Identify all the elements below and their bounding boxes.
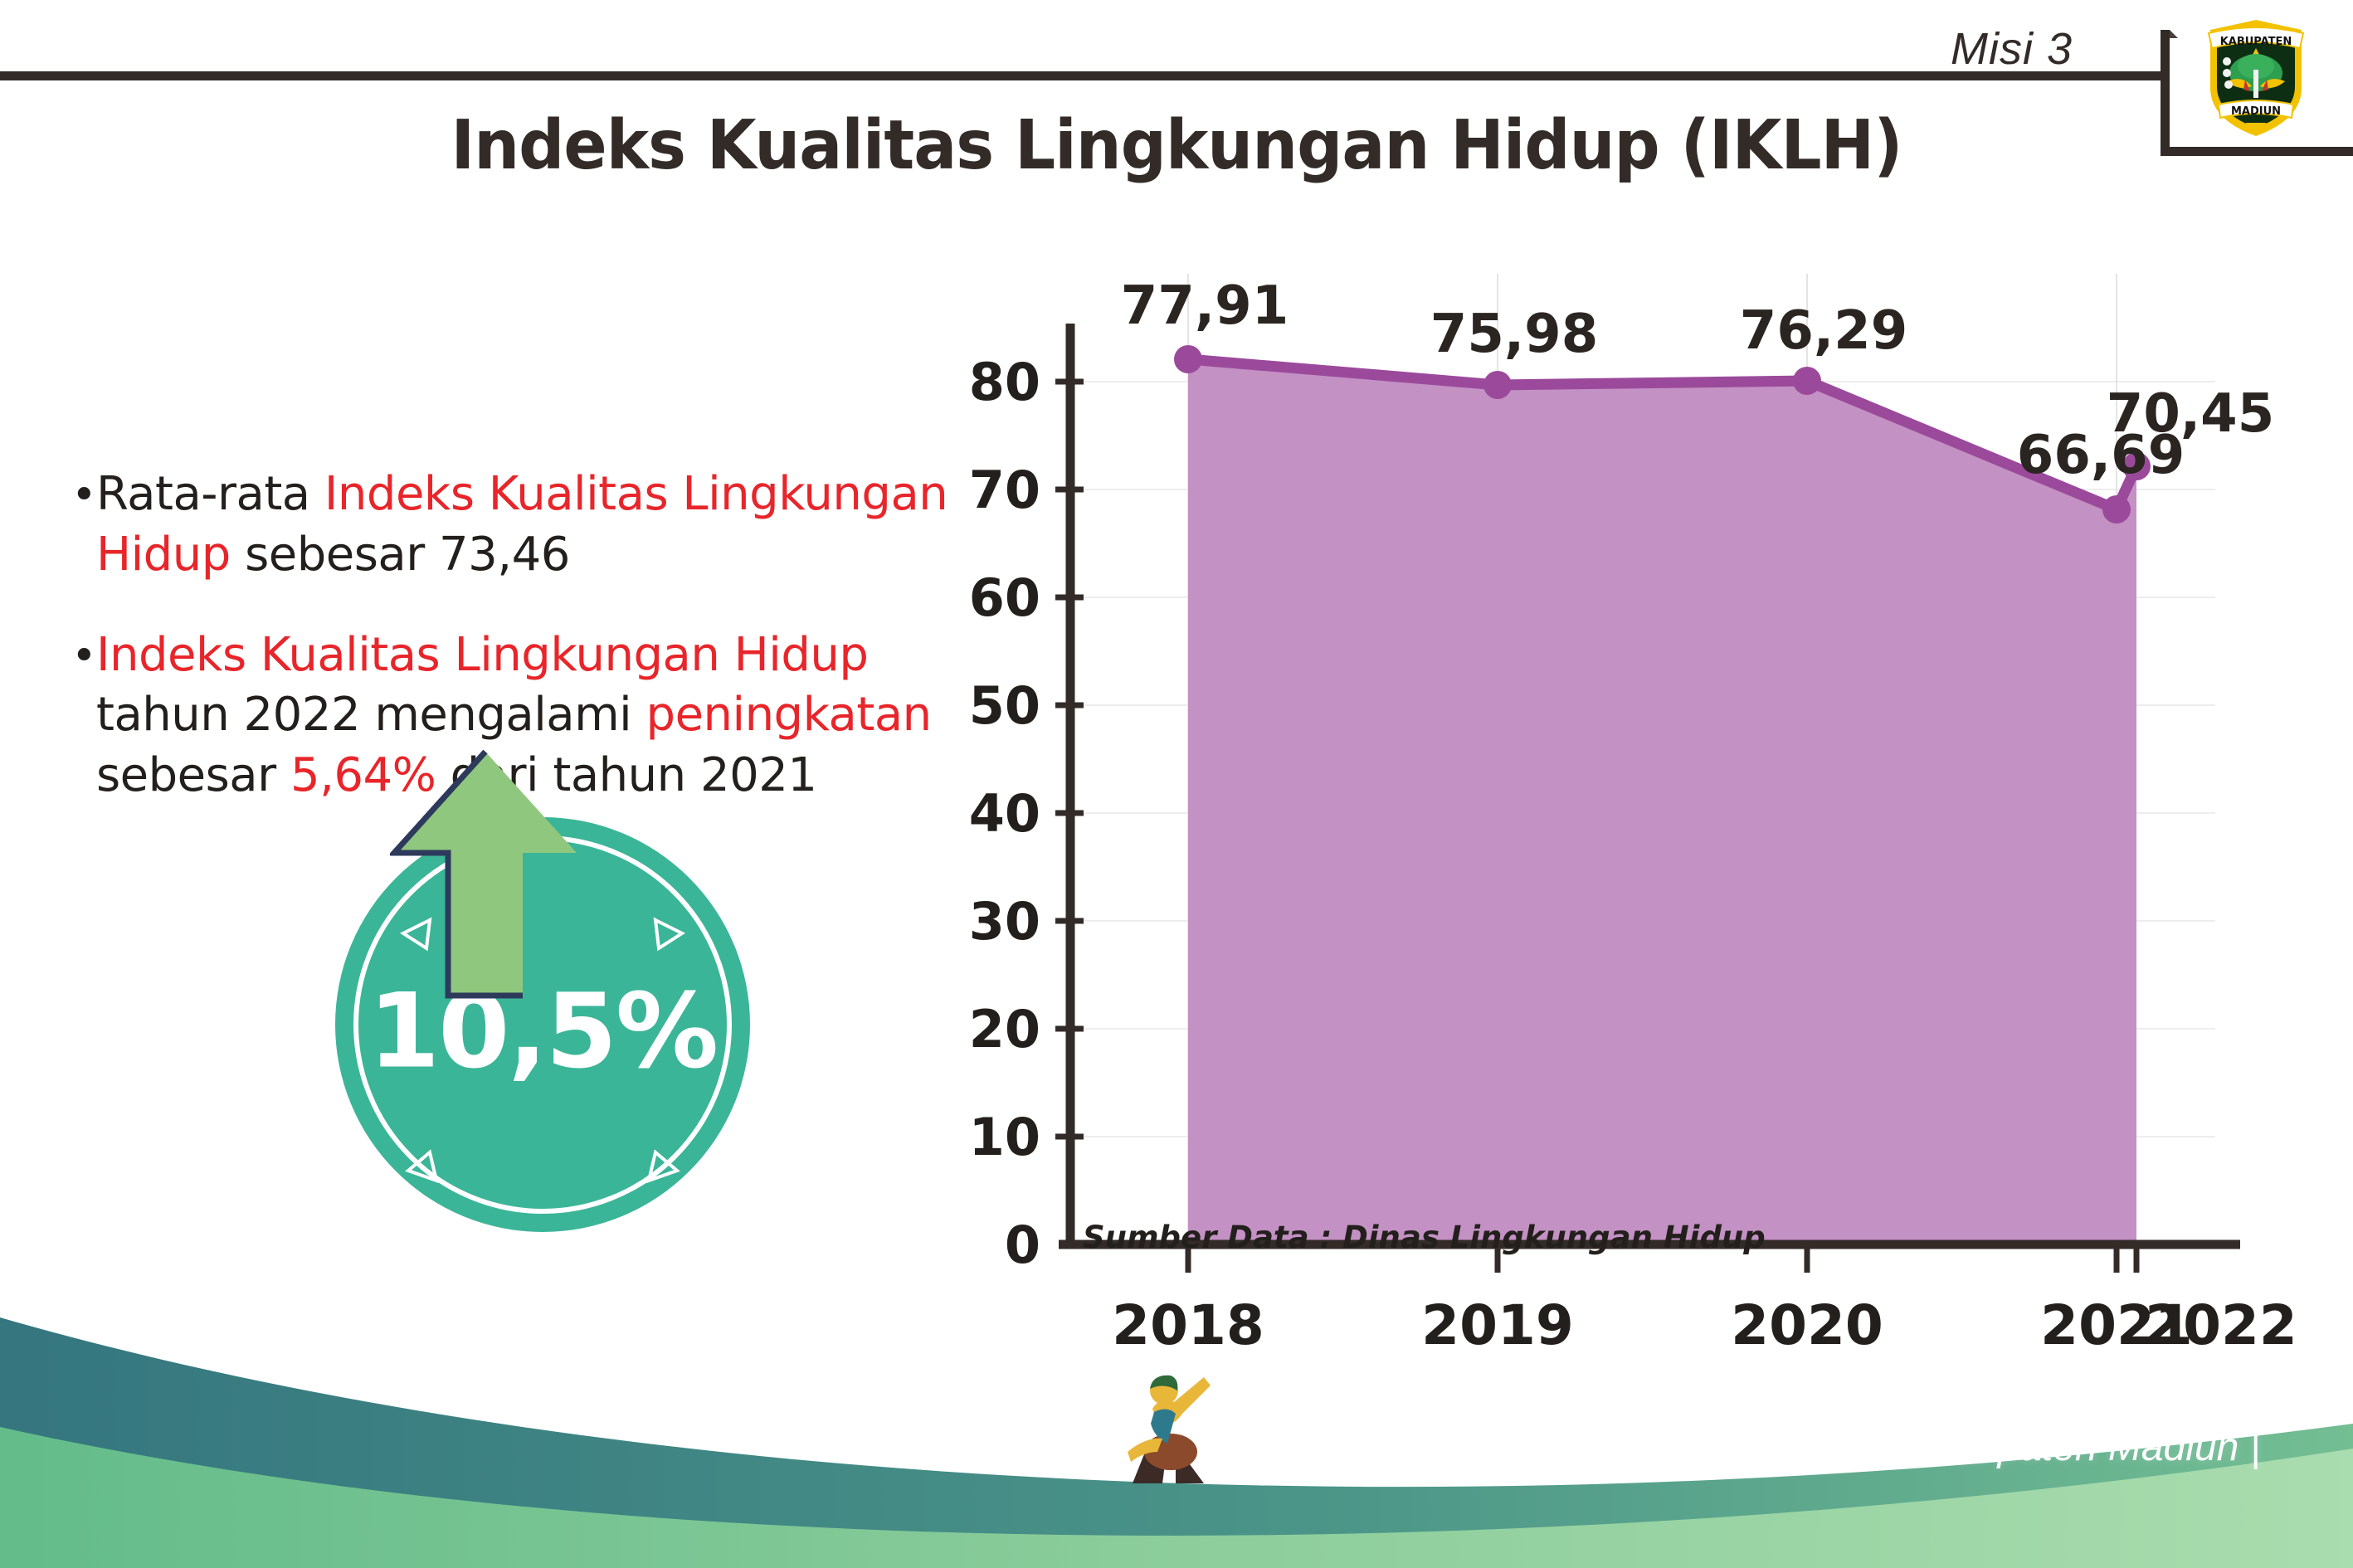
bullet-marker: • <box>71 629 96 685</box>
up-arrow-icon <box>390 747 581 1004</box>
infographic-page: Misi 3 KABUPATEN MADIUN Indeks Kuali <box>0 0 2353 1568</box>
logo-top-text: KABUPATEN <box>2220 36 2292 48</box>
footer-caption: Media Infografis Data Statistik Sektoral… <box>1207 1424 2260 1470</box>
y-tick-label-20: 20 <box>969 999 1040 1059</box>
chart-source-note: Sumber Data : Dinas Lingkungan Hidup <box>1083 1220 1766 1255</box>
header-rule <box>0 71 2167 80</box>
data-label-2022: 70,45 <box>2107 383 2274 445</box>
y-tick-label-50: 50 <box>969 675 1040 736</box>
bullet-1-segment-3: sebesar 73,46 <box>231 528 570 582</box>
y-tick-label-40: 40 <box>969 783 1040 844</box>
y-tick-label-70: 70 <box>969 460 1040 520</box>
mission-label: Misi 3 <box>1951 23 2073 75</box>
triangle-arrow-icon-top-right <box>650 915 689 953</box>
data-label-2019: 75,98 <box>1430 304 1598 365</box>
statistics-figure-icon <box>1124 1366 1214 1490</box>
bullet-2-segment-2: tahun 2022 mengalami <box>96 688 646 742</box>
data-label-2018: 77,91 <box>1121 275 1289 337</box>
bullet-item-average: • Rata-rata Indeks Kualitas Lingkungan H… <box>71 465 992 586</box>
iklh-area-chart: 0 10 20 30 40 50 60 70 80 2018 2019 2020… <box>979 274 2273 1220</box>
triangle-arrow-icon-bottom-left <box>403 1147 441 1186</box>
bullet-marker: • <box>71 468 96 524</box>
y-tick-label-30: 30 <box>969 891 1040 952</box>
bullet-2-segment-4: sebesar <box>96 748 290 802</box>
data-label-2020: 76,29 <box>1740 300 1907 362</box>
bullet-2-highlight-1: Indeks Kualitas Lingkungan Hidup <box>96 628 868 682</box>
y-tick-label-80: 80 <box>969 352 1040 412</box>
bullet-1-segment-1: Rata-rata <box>96 467 324 521</box>
page-title: Indeks Kualitas Lingkungan Hidup (IKLH) <box>71 106 2282 185</box>
y-tick-label-10: 10 <box>969 1107 1040 1167</box>
triangle-arrow-icon-bottom-right <box>644 1147 682 1186</box>
bullet-2-highlight-2: peningkatan <box>646 688 932 742</box>
y-tick-label-0: 0 <box>1005 1215 1040 1275</box>
chart-area-fill <box>1188 359 2136 1244</box>
y-tick-label-60: 60 <box>969 567 1040 628</box>
